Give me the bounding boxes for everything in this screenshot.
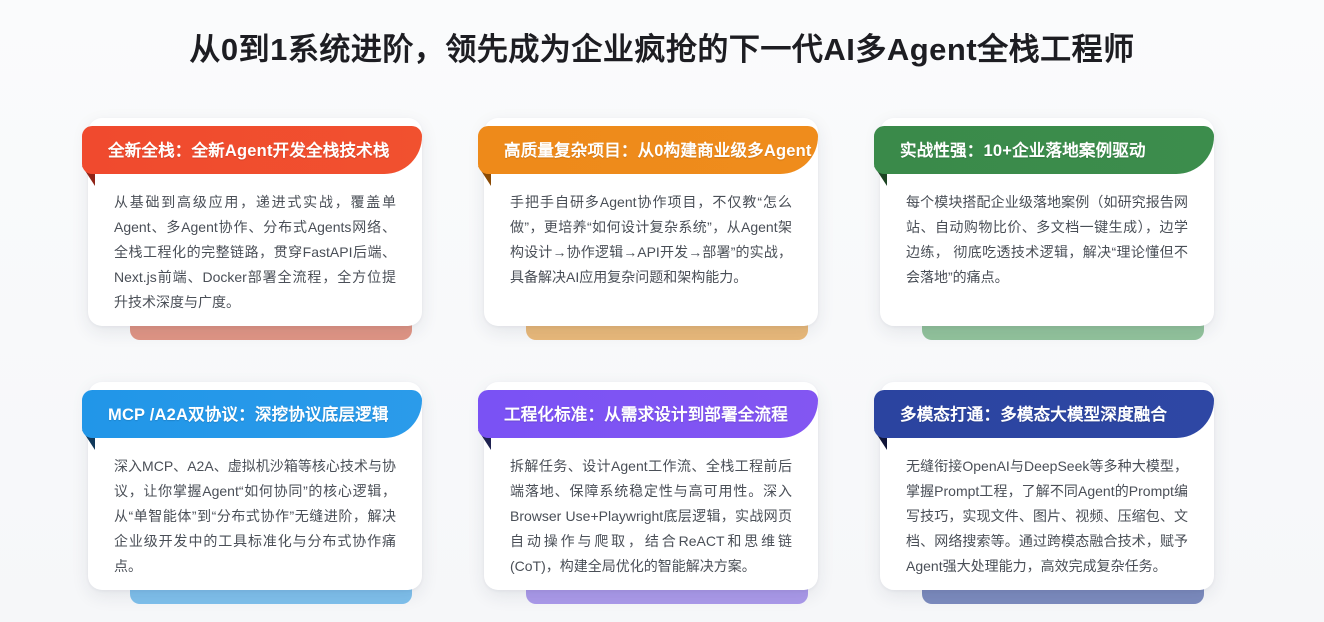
card-description: 每个模块搭配企业级落地案例（如研究报告网站、自动购物比价、多文档一键生成），边学… bbox=[906, 190, 1188, 290]
card-description: 深入MCP、A2A、虚拟机沙箱等核心技术与协议，让你掌握Agent“如何协同”的… bbox=[114, 454, 396, 579]
card-description: 无缝衔接OpenAI与DeepSeek等多种大模型，掌握Prompt工程，了解不… bbox=[906, 454, 1188, 579]
card-ribbon: 工程化标准：从需求设计到部署全流程 bbox=[478, 390, 818, 438]
card-ribbon: 实战性强：10+企业落地案例驱动 bbox=[874, 126, 1214, 174]
card-ribbon: 高质量复杂项目：从0构建商业级多Agent bbox=[478, 126, 818, 174]
feature-card-case-driven: 实战性强：10+企业落地案例驱动 每个模块搭配企业级落地案例（如研究报告网站、自… bbox=[874, 118, 1214, 330]
card-description: 手把手自研多Agent协作项目，不仅教“怎么做”，更培养“如何设计复杂系统”，从… bbox=[510, 190, 792, 290]
card-heading: 全新全栈：全新Agent开发全栈技术栈 bbox=[82, 137, 408, 163]
feature-card-full-stack: 全新全栈：全新Agent开发全栈技术栈 从基础到高级应用，递进式实战，覆盖单Ag… bbox=[82, 118, 422, 330]
feature-card-grid: 全新全栈：全新Agent开发全栈技术栈 从基础到高级应用，递进式实战，覆盖单Ag… bbox=[82, 118, 1242, 594]
card-description: 拆解任务、设计Agent工作流、全栈工程前后端落地、保障系统稳定性与高可用性。深… bbox=[510, 454, 792, 579]
card-ribbon: 多模态打通：多模态大模型深度融合 bbox=[874, 390, 1214, 438]
card-heading: MCP /A2A双协议：深挖协议底层逻辑 bbox=[82, 401, 407, 427]
feature-card-mcp-a2a: MCP /A2A双协议：深挖协议底层逻辑 深入MCP、A2A、虚拟机沙箱等核心技… bbox=[82, 382, 422, 594]
feature-card-complex-project: 高质量复杂项目：从0构建商业级多Agent 手把手自研多Agent协作项目，不仅… bbox=[478, 118, 818, 330]
card-ribbon: MCP /A2A双协议：深挖协议底层逻辑 bbox=[82, 390, 422, 438]
feature-card-engineering-standard: 工程化标准：从需求设计到部署全流程 拆解任务、设计Agent工作流、全栈工程前后… bbox=[478, 382, 818, 594]
card-heading: 工程化标准：从需求设计到部署全流程 bbox=[478, 401, 806, 427]
card-heading: 高质量复杂项目：从0构建商业级多Agent bbox=[478, 137, 818, 163]
card-description: 从基础到高级应用，递进式实战，覆盖单Agent、多Agent协作、分布式Agen… bbox=[114, 190, 396, 315]
card-ribbon: 全新全栈：全新Agent开发全栈技术栈 bbox=[82, 126, 422, 174]
feature-highlights-page: 从0到1系统进阶，领先成为企业疯抢的下一代AI多Agent全栈工程师 全新全栈：… bbox=[0, 0, 1324, 622]
card-heading: 多模态打通：多模态大模型深度融合 bbox=[874, 401, 1185, 427]
page-title: 从0到1系统进阶，领先成为企业疯抢的下一代AI多Agent全栈工程师 bbox=[0, 24, 1324, 69]
feature-card-multimodal: 多模态打通：多模态大模型深度融合 无缝衔接OpenAI与DeepSeek等多种大… bbox=[874, 382, 1214, 594]
card-heading: 实战性强：10+企业落地案例驱动 bbox=[874, 137, 1164, 163]
